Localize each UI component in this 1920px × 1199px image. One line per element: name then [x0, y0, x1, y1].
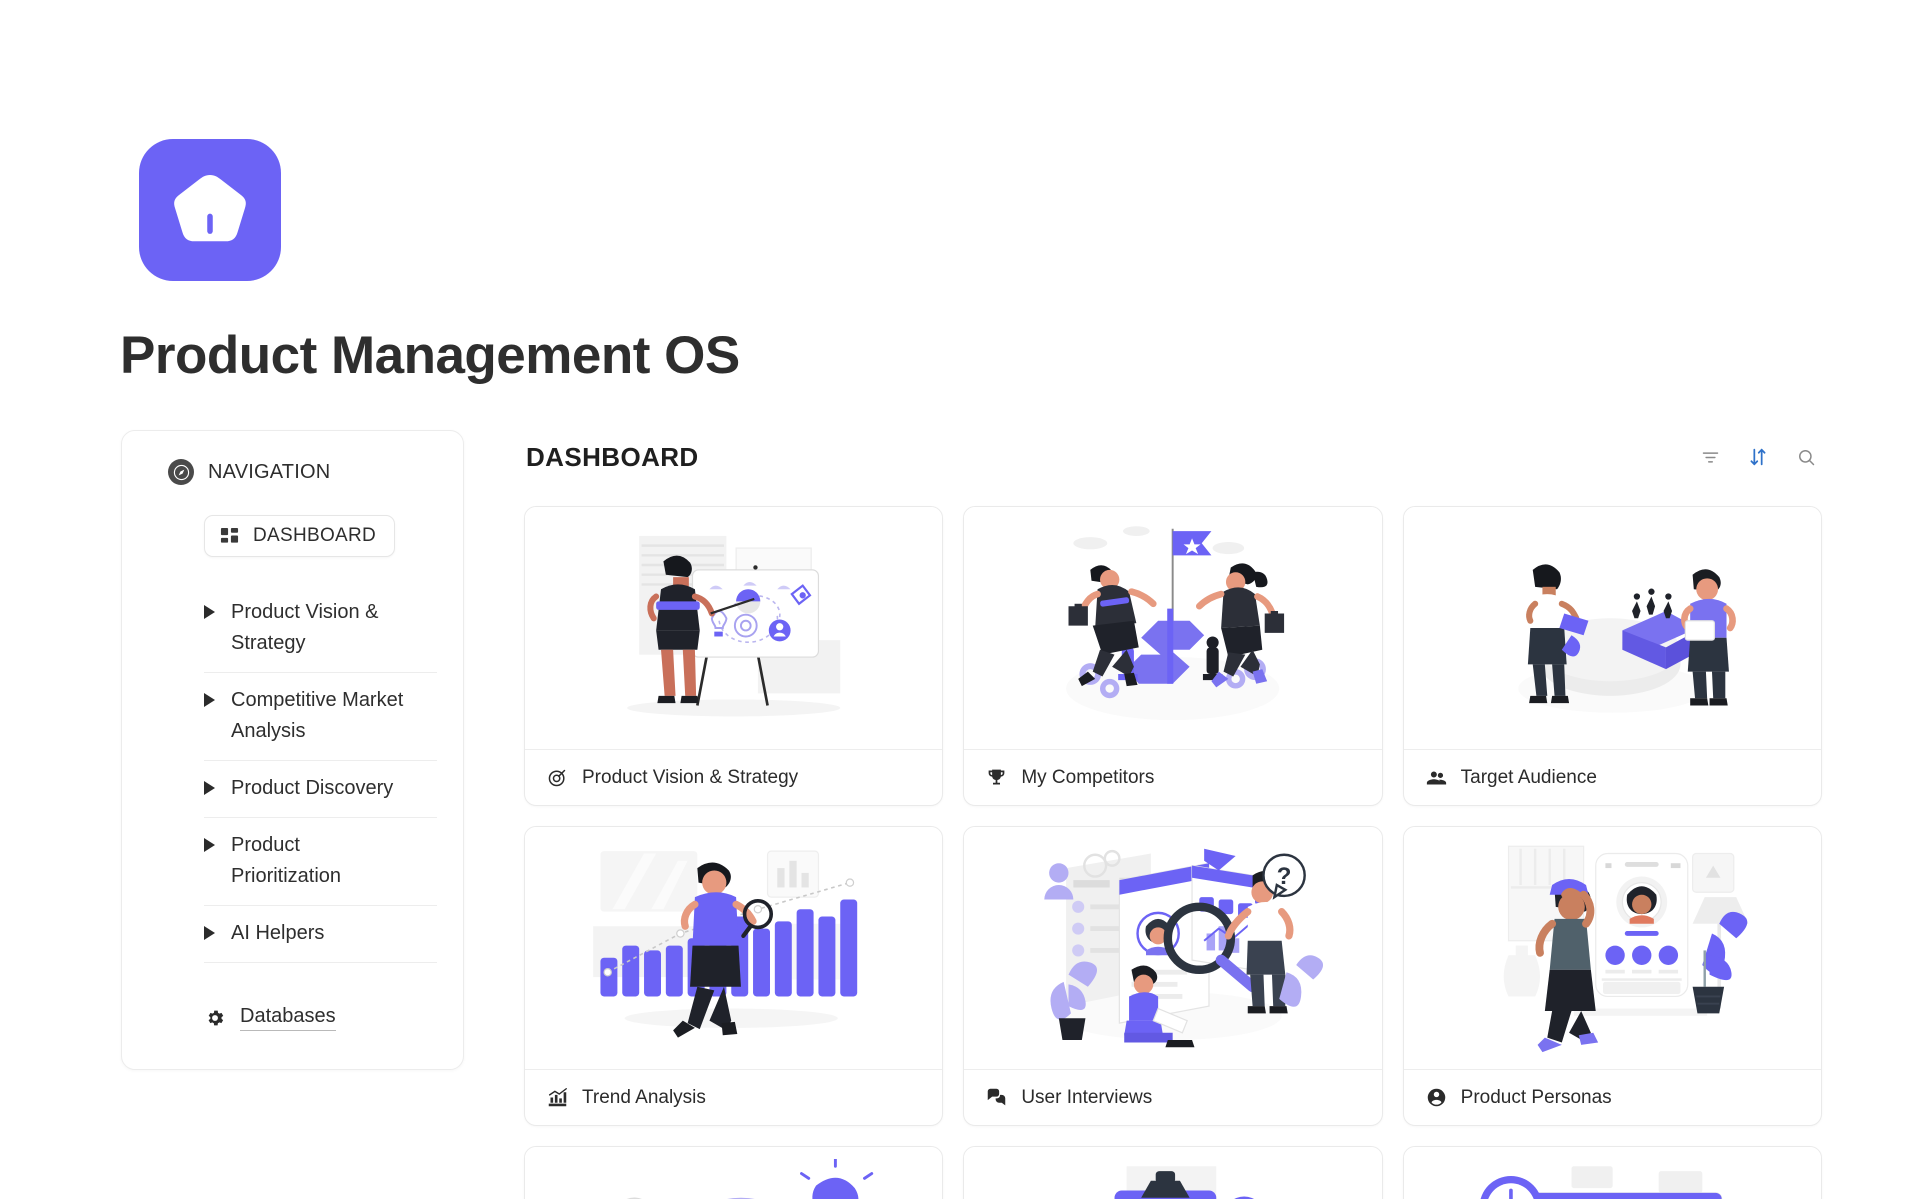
- card-label: My Competitors: [1021, 767, 1154, 789]
- navigation-sidebar: NAVIGATION DASHBOARD Product Vision & St…: [121, 430, 464, 1070]
- dashboard-title: DASHBOARD: [526, 442, 699, 473]
- card-illustration: [964, 1147, 1381, 1199]
- card-illustration: [1404, 1147, 1821, 1199]
- woman-with-phone-profile-illustration: [1416, 839, 1809, 1057]
- caret-right-icon[interactable]: [204, 926, 215, 940]
- team-kanban-board-clock-illustration: [1416, 1159, 1809, 1199]
- dashboard-header: DASHBOARD: [524, 430, 1822, 484]
- trophy-icon: [986, 767, 1007, 788]
- card-illustration: [1404, 827, 1821, 1069]
- woman-presenting-whiteboard-illustration: [537, 519, 930, 737]
- target-icon: [547, 767, 568, 788]
- card-product-personas[interactable]: Product Personas: [1403, 826, 1822, 1126]
- caret-right-icon[interactable]: [204, 838, 215, 852]
- card-user-interviews[interactable]: ?: [963, 826, 1382, 1126]
- search-icon[interactable]: [1792, 443, 1820, 471]
- card-footer: User Interviews: [964, 1069, 1381, 1125]
- app-root: Product Management OS NAVIGATION DASHBOA…: [0, 0, 1920, 1199]
- card-illustration: [525, 507, 942, 749]
- card-illustration: ?: [964, 827, 1381, 1069]
- two-people-profile-screens-magnifier-illustration: ?: [976, 839, 1369, 1057]
- card-footer: Trend Analysis: [525, 1069, 942, 1125]
- card-my-competitors[interactable]: My Competitors: [963, 506, 1382, 806]
- caret-right-icon[interactable]: [204, 605, 215, 619]
- sort-icon[interactable]: [1744, 443, 1772, 471]
- card-footer: Product Vision & Strategy: [525, 749, 942, 805]
- sidebar-item-label: Competitive Market Analysis: [231, 685, 411, 747]
- card-row3-item3[interactable]: [1403, 1146, 1822, 1199]
- sidebar-item-list: Product Vision & Strategy Competitive Ma…: [204, 597, 437, 963]
- compass-icon: [168, 459, 194, 485]
- card-row3-item1[interactable]: ?: [524, 1146, 943, 1199]
- card-target-audience[interactable]: Target Audience: [1403, 506, 1822, 806]
- sidebar-databases-label: Databases: [240, 1005, 336, 1031]
- card-label: Target Audience: [1461, 767, 1597, 789]
- two-people-racing-to-flag-dollar-illustration: [976, 519, 1369, 737]
- card-label: Product Personas: [1461, 1087, 1612, 1109]
- card-product-vision-strategy[interactable]: Product Vision & Strategy: [524, 506, 943, 806]
- navigation-title: NAVIGATION: [208, 461, 330, 484]
- sidebar-item-product-discovery[interactable]: Product Discovery: [204, 761, 437, 818]
- card-footer: My Competitors: [964, 749, 1381, 805]
- card-footer: Product Personas: [1404, 1069, 1821, 1125]
- sidebar-item-ai-helpers[interactable]: AI Helpers: [204, 906, 437, 963]
- grid-icon: [220, 527, 239, 546]
- sidebar-item-product-vision-strategy[interactable]: Product Vision & Strategy: [204, 597, 437, 673]
- caret-right-icon[interactable]: [204, 781, 215, 795]
- two-people-checklist-clipboard-illustration: [976, 1159, 1369, 1199]
- page-title: Product Management OS: [120, 325, 740, 386]
- sidebar-item-databases[interactable]: Databases: [204, 1005, 437, 1031]
- card-label: Product Vision & Strategy: [582, 767, 798, 789]
- app-logo: [139, 139, 281, 281]
- man-with-magnifier-bar-chart-illustration: [537, 839, 930, 1057]
- woman-maze-lightbulb-illustration: ?: [537, 1159, 930, 1199]
- card-row3-item2[interactable]: [963, 1146, 1382, 1199]
- navigation-header: NAVIGATION: [148, 459, 437, 485]
- filter-icon[interactable]: [1696, 443, 1724, 471]
- sidebar-dashboard-label: DASHBOARD: [253, 525, 376, 547]
- card-illustration: ?: [525, 1147, 942, 1199]
- account-circle-icon: [1426, 1087, 1447, 1108]
- card-label: User Interviews: [1021, 1087, 1152, 1109]
- pentagon-home-logo-icon: [164, 164, 256, 256]
- sidebar-item-label: Product Vision & Strategy: [231, 597, 411, 659]
- card-trend-analysis[interactable]: Trend Analysis: [524, 826, 943, 1126]
- sidebar-item-label: AI Helpers: [231, 918, 324, 949]
- dashboard-main: DASHBOARD: [524, 430, 1822, 1199]
- dashboard-card-grid: Product Vision & Strategy: [524, 506, 1822, 1199]
- card-label: Trend Analysis: [582, 1087, 706, 1109]
- card-footer: Target Audience: [1404, 749, 1821, 805]
- svg-text:?: ?: [1277, 863, 1292, 890]
- pie-chart-with-two-people-illustration: [1416, 519, 1809, 737]
- dashboard-toolbar: [1696, 443, 1820, 471]
- chat-bubbles-icon: [986, 1087, 1007, 1108]
- people-icon: [1426, 767, 1447, 788]
- bar-chart-trend-icon: [547, 1087, 568, 1108]
- sidebar-item-competitive-market-analysis[interactable]: Competitive Market Analysis: [204, 673, 437, 761]
- sidebar-item-label: Product Discovery: [231, 773, 393, 804]
- card-illustration: [964, 507, 1381, 749]
- caret-right-icon[interactable]: [204, 693, 215, 707]
- sidebar-item-product-prioritization[interactable]: Product Prioritization: [204, 818, 437, 906]
- card-illustration: [525, 827, 942, 1069]
- card-illustration: [1404, 507, 1821, 749]
- sidebar-item-label: Product Prioritization: [231, 830, 411, 892]
- gear-icon: [204, 1007, 226, 1029]
- sidebar-dashboard-button[interactable]: DASHBOARD: [204, 515, 395, 557]
